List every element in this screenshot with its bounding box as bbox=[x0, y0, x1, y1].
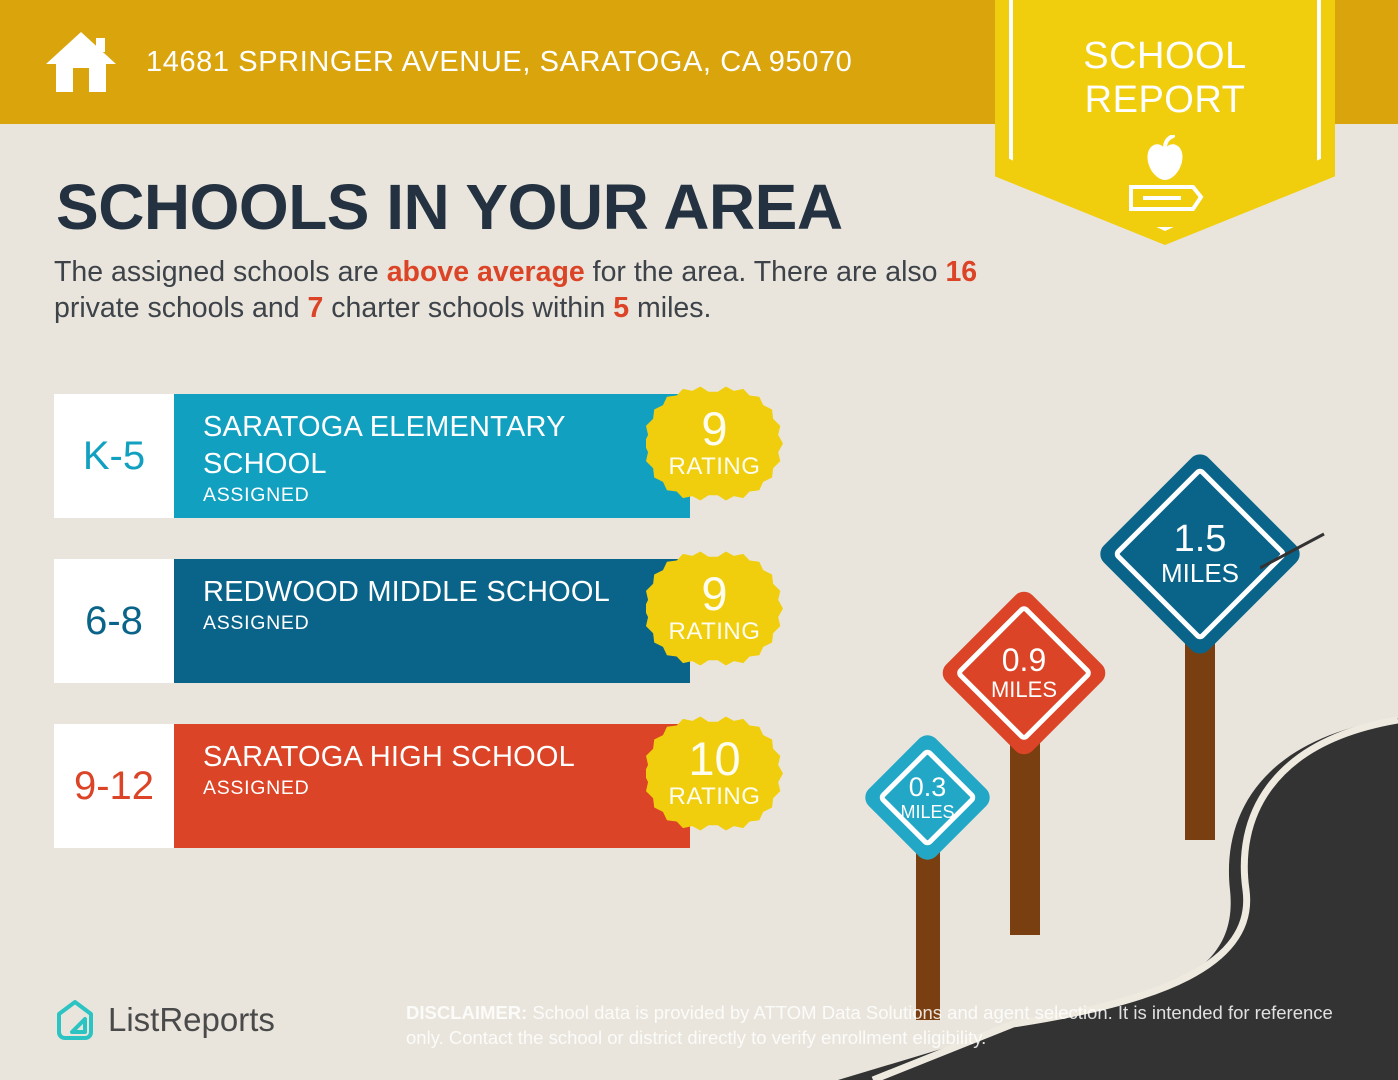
sign-post bbox=[916, 835, 940, 1020]
subtitle-highlight-above-average: above average bbox=[387, 256, 585, 288]
listreports-house-icon bbox=[54, 998, 96, 1042]
subtitle-highlight-charter-count: 7 bbox=[307, 292, 323, 324]
subtitle-part-4: charter schools within bbox=[323, 292, 613, 324]
subtitle-highlight-private-count: 16 bbox=[945, 256, 977, 288]
subtitle-part-3: private schools and bbox=[54, 292, 307, 324]
sign-diamond bbox=[938, 587, 1111, 760]
page-subtitle: The assigned schools are above average f… bbox=[54, 254, 984, 326]
listreports-logo-text: ListReports bbox=[108, 1001, 275, 1039]
grade-range-label: 9-12 bbox=[74, 764, 154, 809]
school-info-bar: SARATOGA ELEMENTARY SCHOOL ASSIGNED bbox=[174, 394, 690, 518]
school-row[interactable]: K-5 SARATOGA ELEMENTARY SCHOOL ASSIGNED … bbox=[54, 394, 690, 518]
school-list: K-5 SARATOGA ELEMENTARY SCHOOL ASSIGNED … bbox=[54, 394, 690, 889]
rating-label: RATING bbox=[669, 453, 761, 481]
school-name: SARATOGA HIGH SCHOOL bbox=[203, 739, 690, 776]
rating-label: RATING bbox=[669, 783, 761, 811]
school-name: SARATOGA ELEMENTARY SCHOOL bbox=[203, 409, 690, 483]
school-row[interactable]: 6-8 REDWOOD MIDDLE SCHOOL ASSIGNED 9 RAT… bbox=[54, 559, 690, 683]
school-info-bar: SARATOGA HIGH SCHOOL ASSIGNED bbox=[174, 724, 690, 848]
listreports-logo[interactable]: ListReports bbox=[54, 998, 275, 1042]
badge-title: SCHOOL REPORT bbox=[995, 34, 1335, 122]
sign-diamond bbox=[860, 730, 994, 864]
grade-range-box: K-5 bbox=[54, 394, 174, 518]
distance-sign-3: 1.5 MILES bbox=[1110, 460, 1290, 830]
school-name: REDWOOD MIDDLE SCHOOL bbox=[203, 574, 690, 611]
subtitle-part-2: for the area. There are also bbox=[585, 256, 946, 288]
grade-range-box: 6-8 bbox=[54, 559, 174, 683]
badge-title-line1: SCHOOL bbox=[995, 34, 1335, 78]
school-status: ASSIGNED bbox=[203, 484, 690, 507]
grade-range-label: K-5 bbox=[83, 434, 145, 479]
property-address: 14681 SPRINGER AVENUE, SARATOGA, CA 9507… bbox=[146, 46, 852, 79]
rating-value: 9 bbox=[701, 407, 727, 451]
rating-value: 9 bbox=[701, 572, 727, 616]
school-report-badge: SCHOOL REPORT bbox=[995, 0, 1335, 245]
school-status: ASSIGNED bbox=[203, 612, 690, 635]
subtitle-highlight-radius: 5 bbox=[613, 292, 629, 324]
rating-value: 10 bbox=[688, 737, 740, 781]
disclaimer-body: School data is provided by ATTOM Data So… bbox=[406, 1002, 1333, 1048]
grade-range-label: 6-8 bbox=[85, 599, 143, 644]
disclaimer-label: DISCLAIMER: bbox=[406, 1002, 527, 1023]
disclaimer-text: DISCLAIMER: School data is provided by A… bbox=[406, 1000, 1336, 1050]
school-status: ASSIGNED bbox=[203, 777, 690, 800]
subtitle-part-5: miles. bbox=[629, 292, 711, 324]
badge-title-line2: REPORT bbox=[995, 78, 1335, 122]
home-icon bbox=[44, 30, 118, 94]
page-title: SCHOOLS IN YOUR AREA bbox=[56, 170, 843, 244]
school-info-bar: REDWOOD MIDDLE SCHOOL ASSIGNED bbox=[174, 559, 690, 683]
apple-on-books-icon bbox=[1117, 135, 1213, 217]
sign-wire-icon bbox=[1260, 532, 1330, 572]
rating-label: RATING bbox=[669, 618, 761, 646]
distance-sign-1: 0.3 MILES bbox=[868, 740, 988, 990]
grade-range-box: 9-12 bbox=[54, 724, 174, 848]
school-row[interactable]: 9-12 SARATOGA HIGH SCHOOL ASSIGNED 10 RA… bbox=[54, 724, 690, 848]
subtitle-part-1: The assigned schools are bbox=[54, 256, 387, 288]
